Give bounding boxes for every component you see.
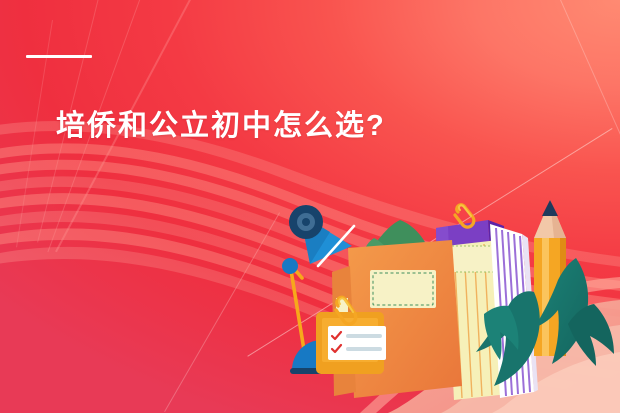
page-title: 培侨和公立初中怎么选? [56,106,386,146]
promo-banner: 培侨和公立初中怎么选? [0,0,620,413]
school-supplies-illustration [276,186,620,413]
title-underline [26,55,92,58]
lamp-joint [282,258,298,274]
